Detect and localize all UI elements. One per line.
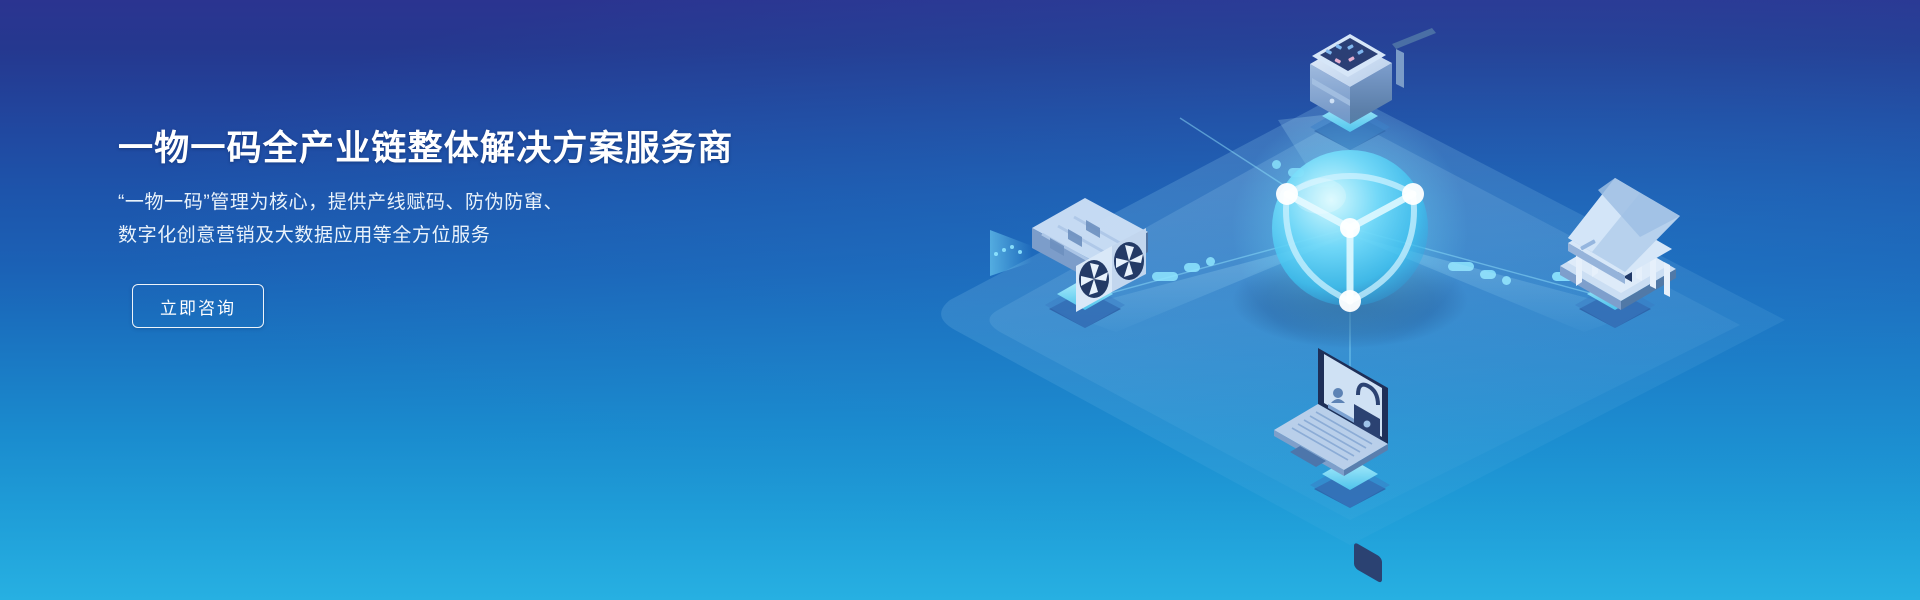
- hero-subtitle: “一物一码”管理为核心，提供产线赋码、防伪防窜、 数字化创意营销及大数据应用等全…: [118, 172, 758, 252]
- hero-subtitle-line-1: “一物一码”管理为核心，提供产线赋码、防伪防窜、: [118, 186, 758, 219]
- consult-now-button[interactable]: 立即咨询: [132, 284, 264, 328]
- page-title: 一物一码全产业链整体解决方案服务商: [118, 126, 758, 172]
- illustration-canvas: [880, 0, 1920, 600]
- core-sphere-icon: [1232, 110, 1468, 346]
- hero-copy: 一物一码全产业链整体解决方案服务商 “一物一码”管理为核心，提供产线赋码、防伪防…: [118, 126, 758, 328]
- hero-banner: 一物一码全产业链整体解决方案服务商 “一物一码”管理为核心，提供产线赋码、防伪防…: [0, 0, 1920, 600]
- hero-subtitle-line-2: 数字化创意营销及大数据应用等全方位服务: [118, 219, 758, 252]
- isometric-illustration: [880, 0, 1920, 600]
